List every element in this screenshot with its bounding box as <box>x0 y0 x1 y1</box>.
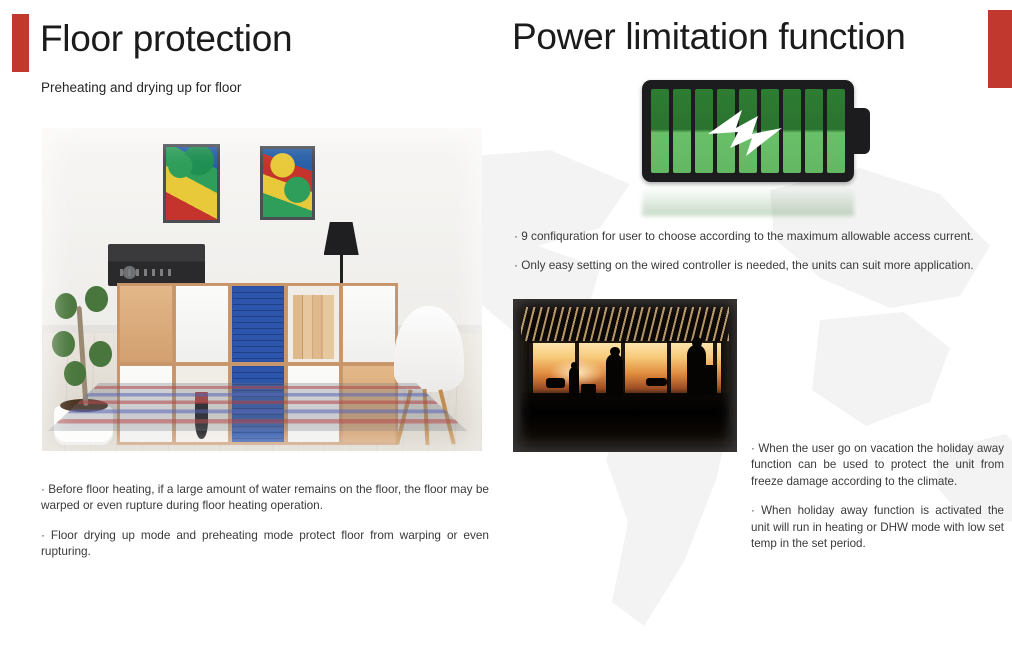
plant-leaf <box>89 341 111 367</box>
wall-art-frame-left <box>163 144 220 223</box>
airport-travellers-sunset-photo <box>513 299 737 452</box>
battery-bar <box>805 89 823 173</box>
battery-bar <box>783 89 801 173</box>
plant-leaf <box>55 293 77 319</box>
holiday-away-bullets: · When the user go on vacation the holid… <box>751 441 1004 553</box>
traveller-silhouette <box>606 354 623 398</box>
traveller-head <box>571 362 577 369</box>
heating-pipe <box>67 410 449 414</box>
floor-protection-title: Floor protection <box>40 20 292 59</box>
wall-art-left <box>166 147 217 220</box>
floor-protection-subtitle: Preheating and drying up for floor <box>41 80 241 95</box>
heating-pipe <box>85 393 430 396</box>
parked-aircraft-silhouette <box>546 378 565 388</box>
battery-reflection <box>642 184 854 216</box>
bullet-item: · 9 confiquration for user to choose acc… <box>514 228 987 244</box>
lightning-bolt-icon <box>706 98 784 162</box>
battery-bar <box>827 89 845 173</box>
wall-art-frame-right <box>260 146 315 220</box>
battery-bar <box>651 89 669 173</box>
chair-seat <box>394 306 464 392</box>
shelf-cell <box>175 285 229 363</box>
lamp-shade <box>324 222 359 256</box>
wall-art-right <box>263 149 312 217</box>
stereo-system <box>108 244 205 286</box>
shelf-cell <box>119 285 173 363</box>
desk-lamp <box>324 222 359 287</box>
bullet-item: · When the user go on vacation the holid… <box>751 441 1004 490</box>
traveller-silhouette <box>569 367 579 397</box>
airport-scene <box>521 307 729 444</box>
shelf-cell <box>231 285 285 363</box>
airport-floor <box>521 393 729 444</box>
right-column: Power limitation function <box>506 0 1012 660</box>
shelf-cell <box>287 285 341 363</box>
power-limitation-bullets: · 9 confiquration for user to choose acc… <box>514 228 987 274</box>
airport-slatted-ceiling <box>521 307 729 341</box>
accent-bar-right <box>988 10 1012 88</box>
slide-canvas: Floor protection Preheating and drying u… <box>0 0 1012 660</box>
bullet-item: · Before floor heating, if a large amoun… <box>41 481 489 514</box>
bullet-item: · Floor drying up mode and preheating mo… <box>41 527 489 560</box>
left-column: Floor protection Preheating and drying u… <box>0 0 506 660</box>
bullet-item: · When holiday away function is activate… <box>751 503 1004 552</box>
ring-binders <box>293 295 335 359</box>
traveller-head <box>610 347 619 357</box>
battery-terminal <box>852 108 870 154</box>
plant-leaf <box>85 286 107 312</box>
shelf-cell <box>342 285 396 363</box>
rolling-suitcase <box>581 384 596 399</box>
heating-pipe <box>76 401 438 405</box>
backpack-silhouette <box>704 365 716 395</box>
underfloor-heating-pipe-mat <box>48 383 467 431</box>
accent-bar-left <box>12 14 29 72</box>
traveller-head <box>692 337 702 348</box>
parked-aircraft-silhouette <box>646 378 667 386</box>
bullet-item: · Only easy setting on the wired control… <box>514 257 987 273</box>
plant-leaf <box>52 331 74 357</box>
heating-pipe <box>56 419 459 423</box>
battery-nine-bars-graphic <box>634 80 884 215</box>
floor-protection-bullets: · Before floor heating, if a large amoun… <box>41 481 489 559</box>
battery-bar <box>673 89 691 173</box>
living-room-underfloor-heating-photo <box>42 128 482 451</box>
heating-pipe <box>93 386 422 389</box>
plant-trunk <box>76 306 88 406</box>
stereo-knob <box>123 266 136 279</box>
power-limitation-title: Power limitation function <box>512 18 906 57</box>
